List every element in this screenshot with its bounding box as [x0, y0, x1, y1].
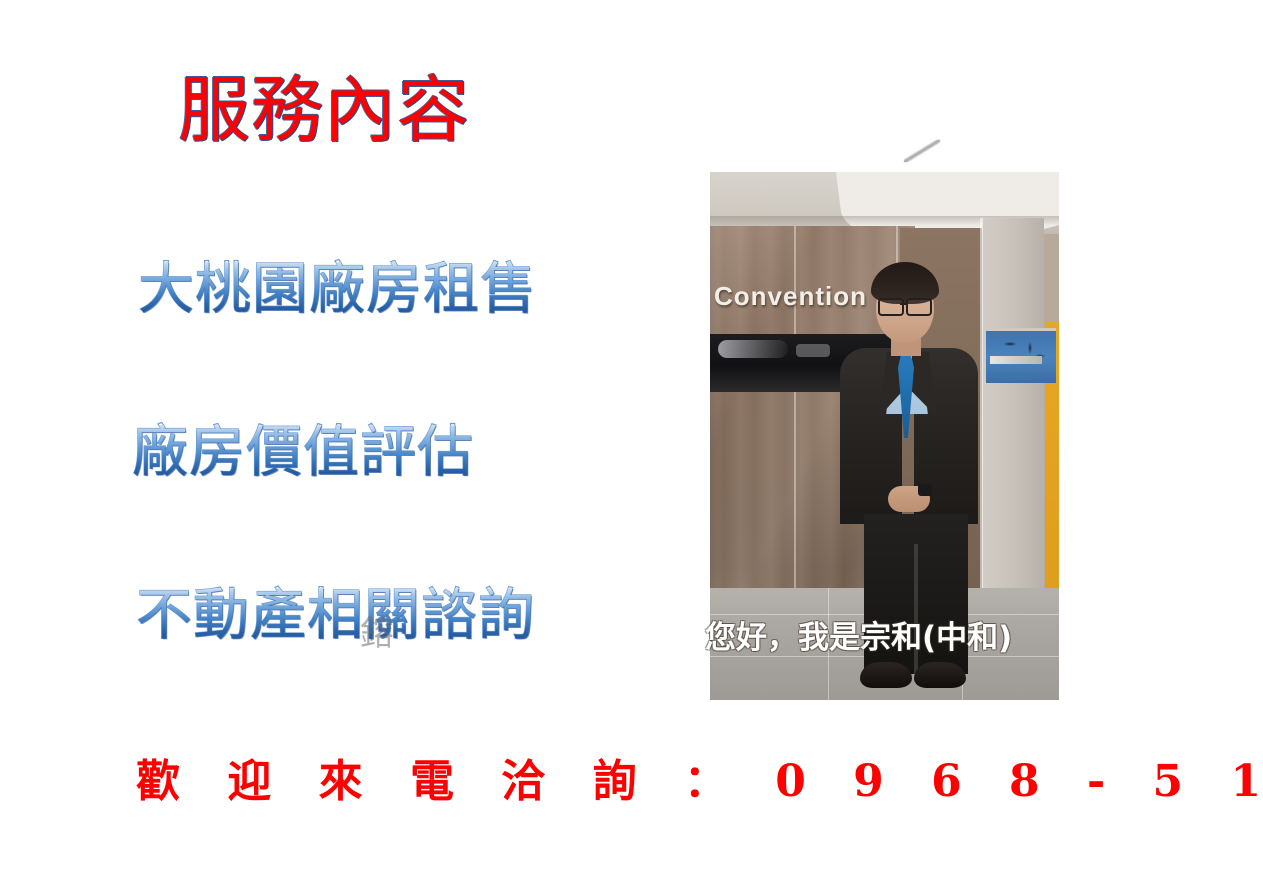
photo-person-shoe-right — [914, 662, 966, 688]
glasses-bridge-icon — [900, 303, 906, 305]
service-item-0: 大桃園廠房租售 — [138, 262, 537, 318]
watch-icon — [918, 484, 932, 496]
service-item-1: 廠房價值評估 — [132, 425, 474, 481]
page-title: 服務內容 — [178, 74, 470, 146]
photo-poster-label — [990, 356, 1042, 364]
photo-caption: 您好，我是宗和(中和) — [705, 612, 1012, 657]
service-item-2: 不動產相關諮詢 — [136, 588, 535, 644]
photo-counter-highlight — [796, 344, 830, 357]
photo-person-shoe-left — [860, 662, 912, 688]
scratch-artifact-icon — [904, 136, 941, 165]
glasses-icon — [878, 298, 904, 316]
glasses-icon — [906, 298, 932, 316]
slide-canvas: 服務內容 大桃園廠房租售 大桃園廠房租售 廠房價值評估 廠房價值評估 不動產相關… — [0, 0, 1263, 891]
photo-counter-highlight — [718, 340, 788, 358]
contact-phone-line: 歡 迎 來 電 洽 詢 ： 0 9 6 8 - 5 1 9 - 8 8 8 — [136, 745, 1263, 809]
photo-poster-writing — [992, 334, 1050, 374]
